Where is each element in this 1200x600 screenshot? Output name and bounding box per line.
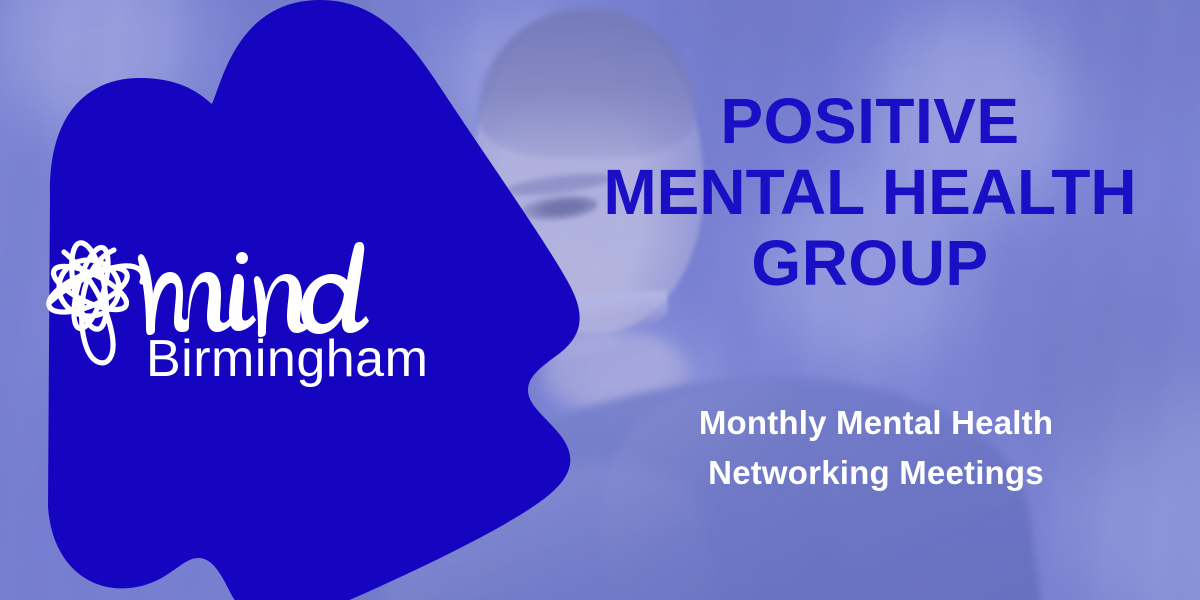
subtitle-line-1: Monthly Mental Health: [556, 398, 1196, 448]
page-title: POSITIVE MENTAL HEALTH GROUP: [540, 86, 1200, 299]
logo-locality-text: Birmingham: [146, 330, 428, 388]
headline-line-3: GROUP: [540, 228, 1200, 299]
event-subtitle: Monthly Mental Health Networking Meeting…: [556, 398, 1196, 498]
headline-line-2: MENTAL HEALTH: [540, 157, 1200, 228]
headline-line-1: POSITIVE: [540, 86, 1200, 157]
subtitle-line-2: Networking Meetings: [556, 448, 1196, 498]
event-banner: Birmingham POSITIVE MENTAL HEALTH GROUP …: [0, 0, 1200, 600]
mind-birmingham-logo: Birmingham: [42, 228, 492, 388]
mind-wordmark: [138, 242, 369, 337]
mind-scribble-icon: [43, 240, 143, 363]
